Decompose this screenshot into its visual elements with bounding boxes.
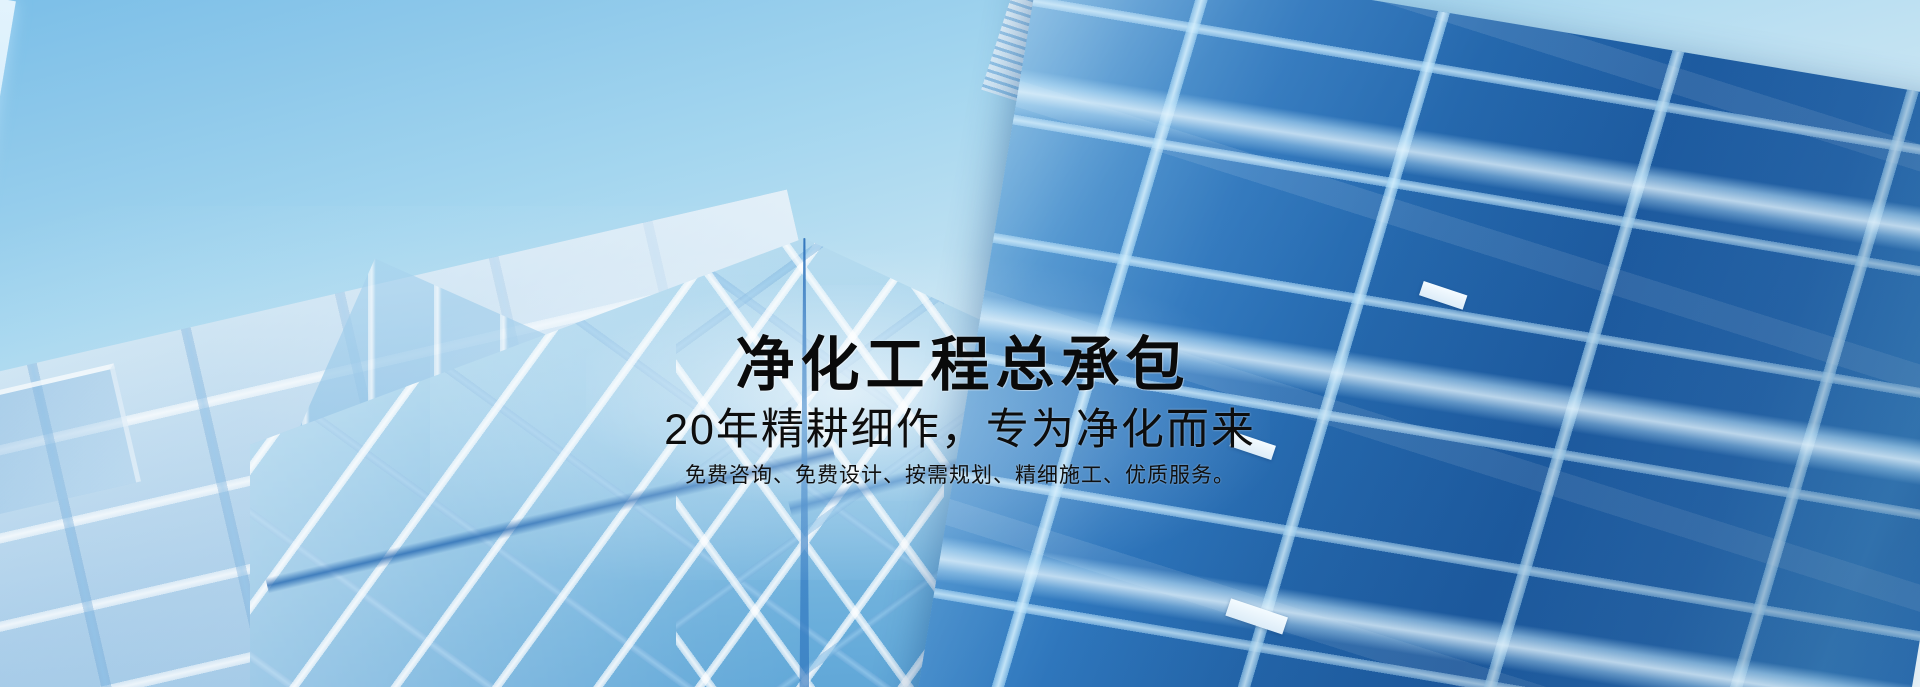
hero-headline: 净化工程总承包	[0, 336, 1920, 395]
hero-service-tagline: 免费咨询、免费设计、按需规划、精细施工、优质服务。	[0, 465, 1920, 486]
hero-text-block: 净化工程总承包 20年精耕细作，专为净化而来 免费咨询、免费设计、按需规划、精细…	[0, 336, 1920, 486]
hero-subheadline: 20年精耕细作，专为净化而来	[0, 409, 1920, 452]
hero-banner: 净化工程总承包 20年精耕细作，专为净化而来 免费咨询、免费设计、按需规划、精细…	[0, 0, 1920, 687]
